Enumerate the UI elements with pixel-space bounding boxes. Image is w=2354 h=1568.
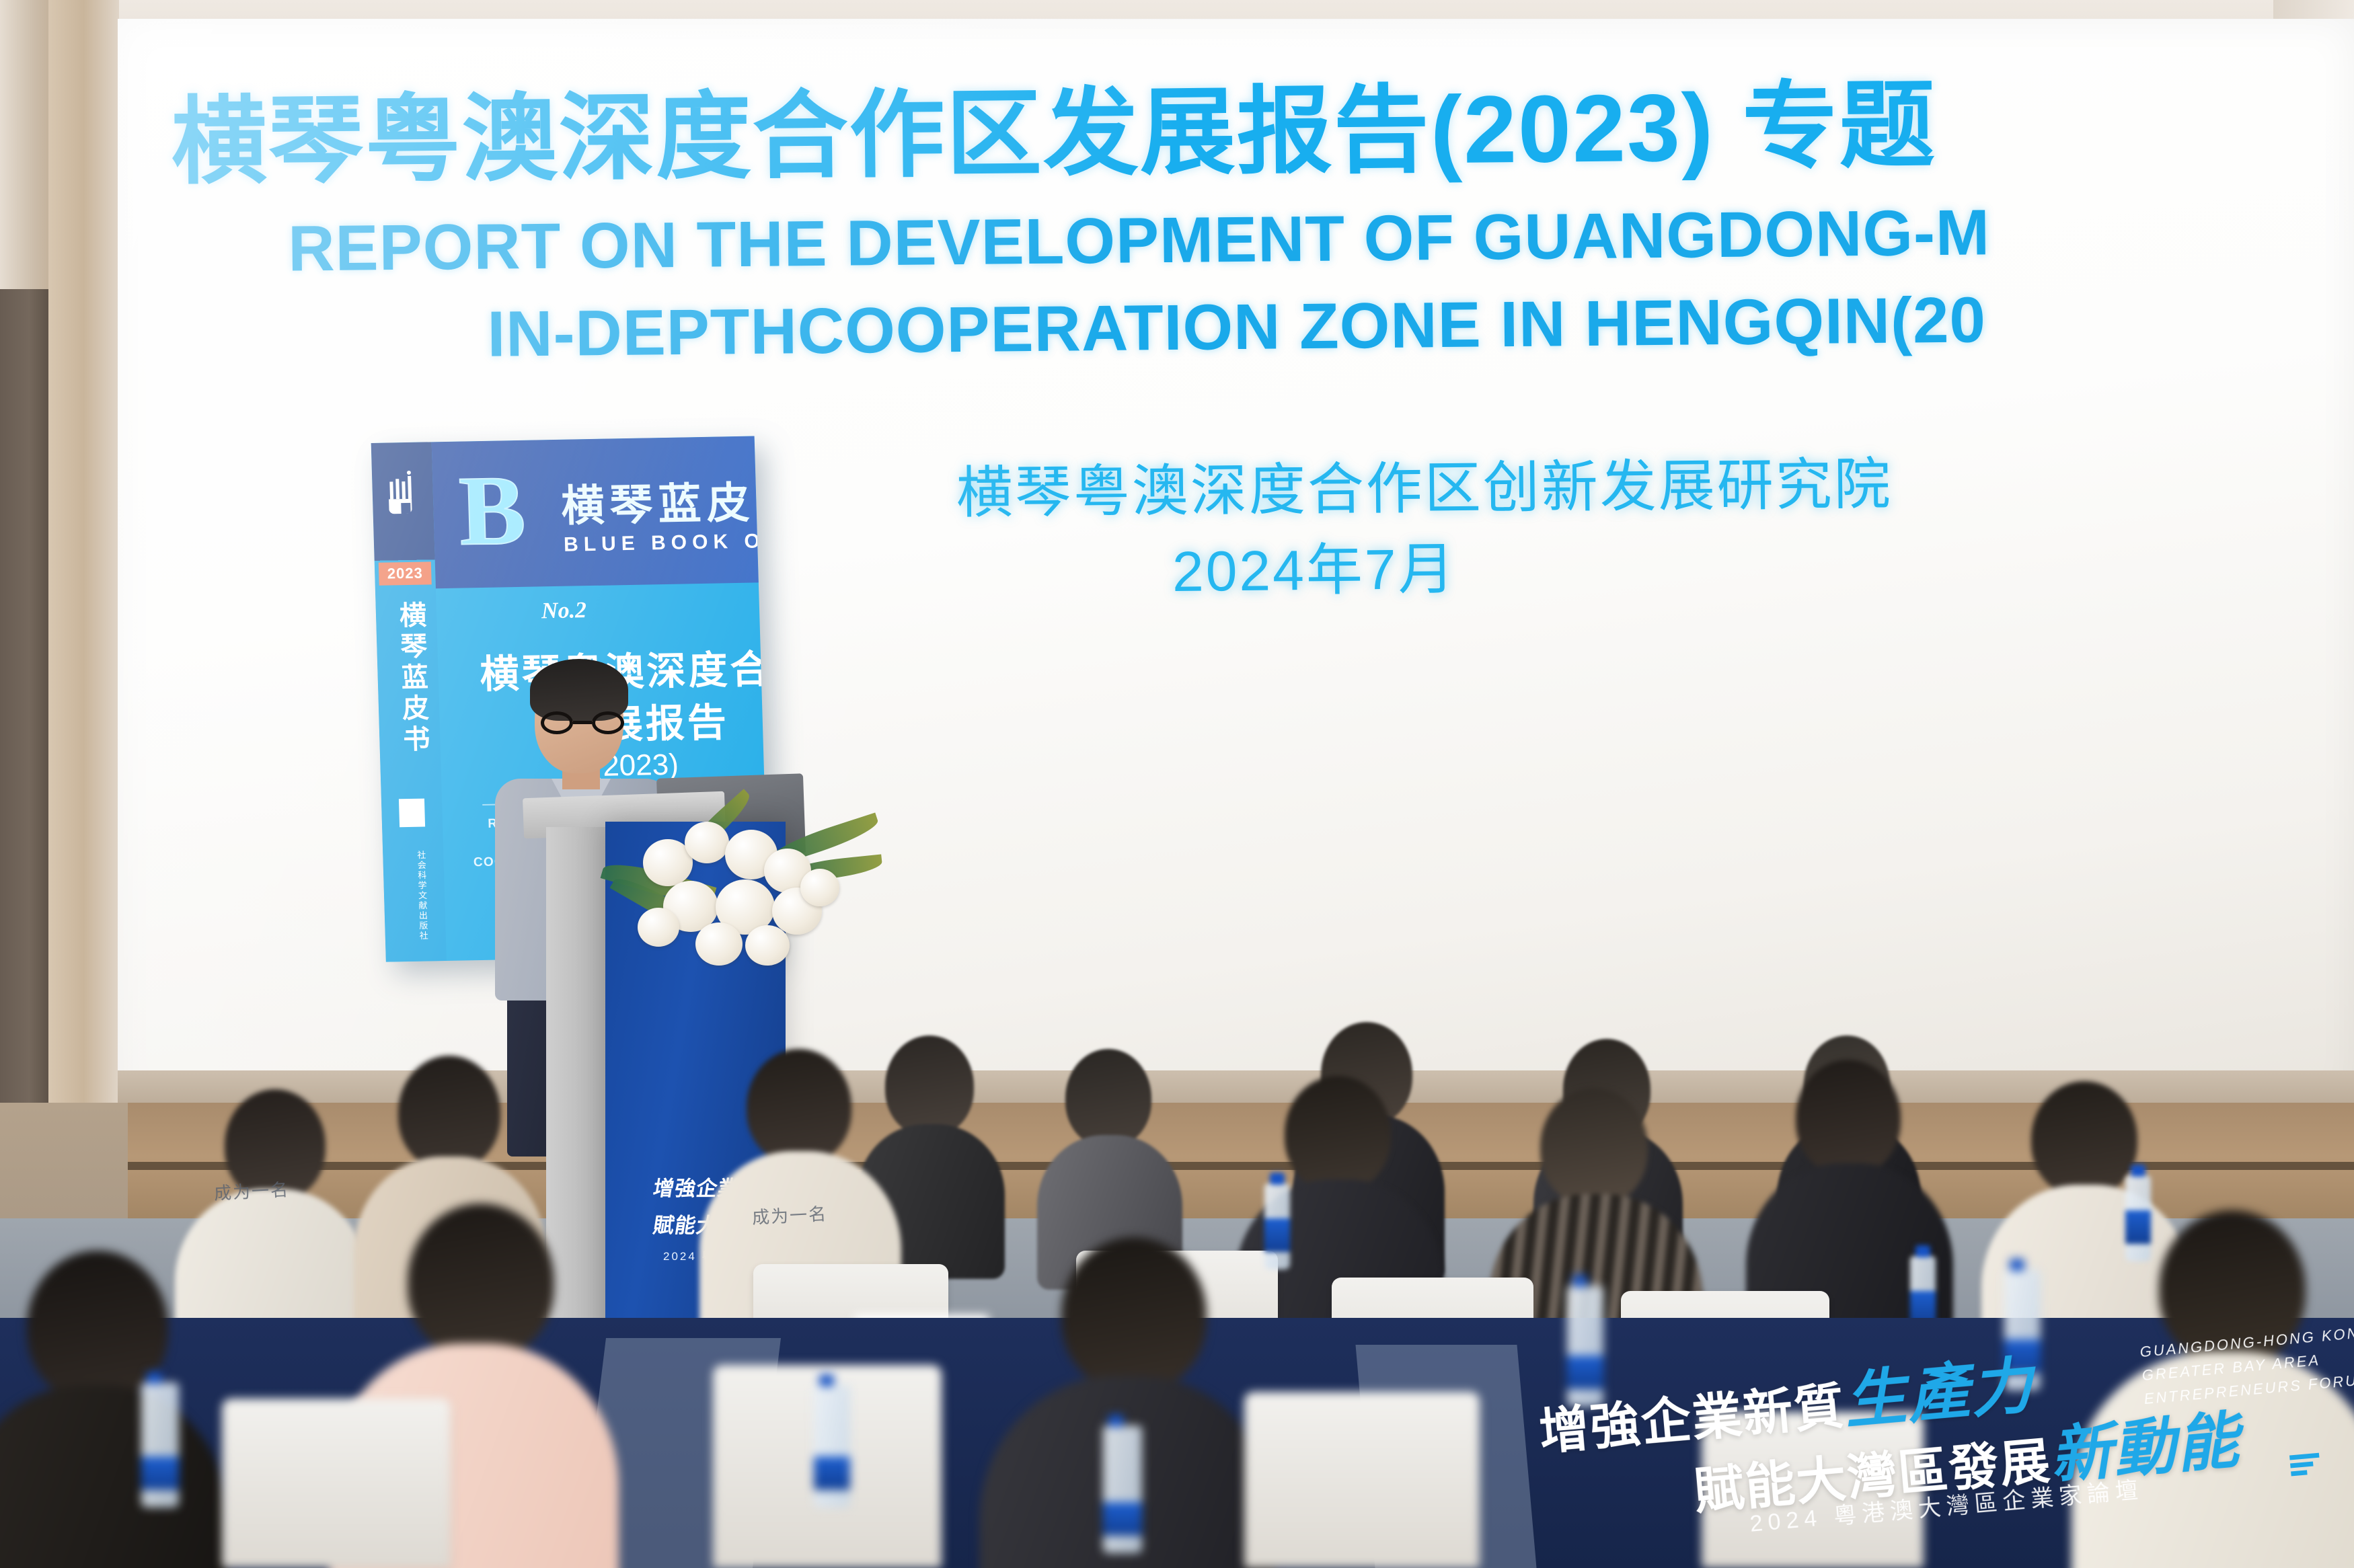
slide-title-english-line2: IN-DEPTHCOOPERATION ZONE IN HENGQIN(20 (487, 283, 1986, 371)
book-spine-year-badge: 2023 (379, 561, 432, 585)
book-header-english: BLUE BOOK OF HENGQIN (564, 527, 769, 557)
wall-left-door (0, 289, 48, 1116)
flower-bouquet-icon (599, 807, 881, 1009)
book-cover-header-band (432, 436, 759, 589)
book-spine-title: 横琴蓝皮书 (387, 601, 430, 756)
water-bottle-icon (814, 1385, 850, 1507)
book-spine: 2023 横琴蓝皮书 社会科学文献出版社 (371, 442, 447, 962)
water-bottle-icon (1567, 1286, 1603, 1407)
water-bottle-icon (2125, 1175, 2151, 1261)
audience-chair (1244, 1392, 1480, 1568)
wall-pillar (48, 0, 119, 1116)
book-logo-letter: B (458, 461, 527, 561)
water-bottle-icon (2004, 1269, 2041, 1390)
tshirt-text-mid: 成为一名 (751, 1200, 828, 1229)
tshirt-text-left: 成为一名 (213, 1176, 290, 1205)
publisher-logo-icon (387, 469, 419, 514)
audience-chair (222, 1399, 451, 1568)
book-header-chinese: 横琴蓝皮书 (560, 467, 769, 534)
water-bottle-icon (1103, 1425, 1142, 1553)
presentation-slide: 横琴粤澳深度合作区发展报告(2023) 专题 REPORT ON THE DEV… (118, 19, 2354, 1108)
slide-date: 2024年7月 (1172, 524, 1457, 608)
slide-title-english-line1: REPORT ON THE DEVELOPMENT OF GUANGDONG-M (288, 196, 1991, 286)
slide-organization: 横琴粤澳深度合作区创新发展研究院 (956, 439, 1893, 529)
eyeglasses-icon (541, 711, 624, 734)
projection-screen: 横琴粤澳深度合作区发展报告(2023) 专题 REPORT ON THE DEV… (118, 19, 2354, 1108)
book-spine-publisher-mark (399, 799, 425, 828)
slide-title-chinese: 横琴粤澳深度合作区发展报告(2023) 专题 (171, 75, 1936, 192)
book-spine-publisher: 社会科学文献出版社 (399, 851, 430, 942)
water-bottle-icon (1264, 1183, 1290, 1269)
audience-chair (1702, 1412, 1924, 1568)
book-volume-number: No.2 (541, 598, 586, 624)
water-bottle-icon (141, 1382, 179, 1507)
conference-photo-scene: 横琴粤澳深度合作区发展报告(2023) 专题 REPORT ON THE DEV… (0, 0, 2354, 1568)
